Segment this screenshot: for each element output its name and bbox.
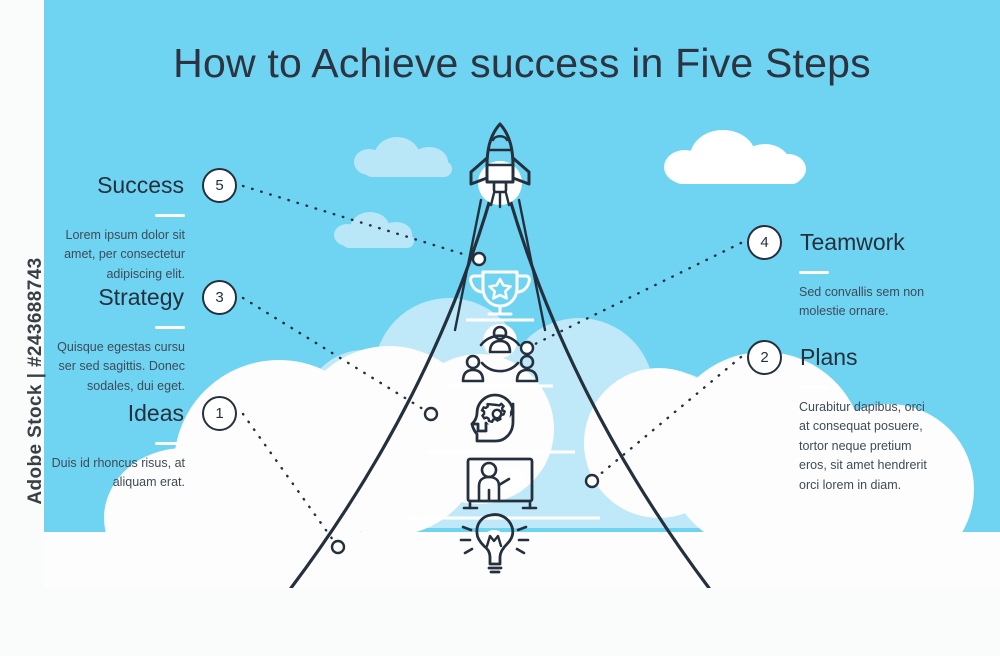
step-rule xyxy=(799,271,829,274)
watermark-text: Adobe Stock | #243688743 xyxy=(25,251,47,511)
step-body-teamwork: Sed convallis sem non molestie ornare. xyxy=(747,283,1000,322)
step-body-plans: Curabitur dapibus, orci at consequat pos… xyxy=(747,398,1000,495)
cloud-small-left xyxy=(354,135,464,175)
step-rule xyxy=(155,326,185,329)
page-title: How to Achieve success in Five Steps xyxy=(44,40,1000,87)
step-heading-row: 2 Plans xyxy=(747,340,1000,375)
step-rule xyxy=(799,386,829,389)
step-badge-3[interactable]: 3 xyxy=(202,280,237,315)
step-label-plans: Plans xyxy=(800,346,858,369)
step-label-ideas: Ideas xyxy=(128,402,184,425)
infographic-canvas: How to Achieve success in Five Steps Suc… xyxy=(0,0,1000,656)
cloud-small-mid xyxy=(334,212,424,246)
step-badge-4[interactable]: 4 xyxy=(747,225,782,260)
step-block-plans: 2 Plans Curabitur dapibus, orci at conse… xyxy=(747,340,1000,495)
step-badge-1[interactable]: 1 xyxy=(202,396,237,431)
step-rule xyxy=(155,442,185,445)
step-label-strategy: Strategy xyxy=(98,286,184,309)
step-block-teamwork: 4 Teamwork Sed convallis sem non molesti… xyxy=(747,225,1000,322)
step-badge-5[interactable]: 5 xyxy=(202,168,237,203)
cloud-top-right xyxy=(664,128,814,184)
step-badge-2[interactable]: 2 xyxy=(747,340,782,375)
step-heading-row: 4 Teamwork xyxy=(747,225,1000,260)
step-rule xyxy=(155,214,185,217)
bottom-strip xyxy=(0,588,1000,656)
step-label-teamwork: Teamwork xyxy=(800,231,905,254)
step-label-success: Success xyxy=(97,174,184,197)
